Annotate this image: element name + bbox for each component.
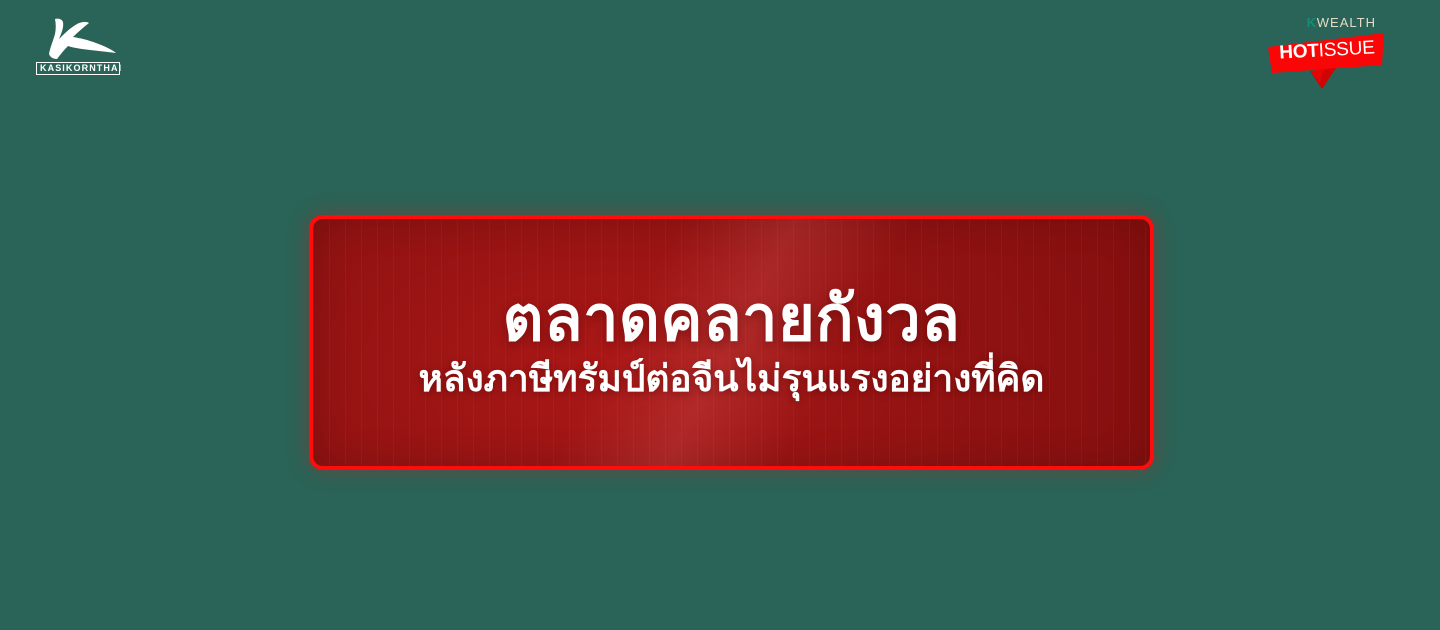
- kwealth-logo[interactable]: KWEALTH: [1307, 16, 1376, 29]
- kwealth-k-letter: K: [1307, 15, 1317, 30]
- kwealth-text: KWEALTH: [1307, 16, 1376, 29]
- kasikornthai-logo[interactable]: KASIKORNTHAI: [36, 16, 120, 75]
- hot-issue-badge[interactable]: HOTISSUE: [1266, 33, 1388, 89]
- headline-callout-card: ตลาดคลายกังวล หลังภาษีทรัมป์ต่อจีนไม่รุน…: [309, 215, 1154, 470]
- page-subtitle: หลังภาษีทรัมป์ต่อจีนไม่รุนแรงอย่างที่คิด: [419, 357, 1045, 401]
- k-brushstroke-logo-icon: [36, 16, 120, 60]
- issue-label: ISSUE: [1318, 38, 1375, 60]
- banner-root: KASIKORNTHAI KWEALTH HOTISSUE ตลาดคลายกั…: [0, 0, 1440, 630]
- hot-label: HOT: [1279, 41, 1320, 62]
- kasikornthai-wordmark: KASIKORNTHAI: [36, 62, 120, 75]
- kwealth-word: WEALTH: [1317, 15, 1376, 30]
- page-title: ตลาดคลายกังวล: [503, 284, 961, 355]
- hot-issue-label-group: HOTISSUE: [1265, 30, 1389, 73]
